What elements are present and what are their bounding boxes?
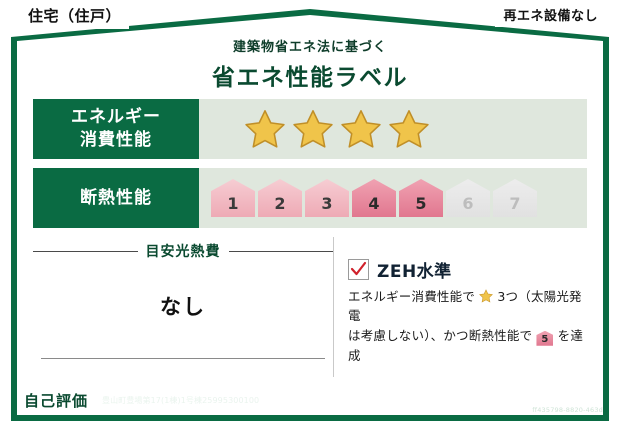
utility-cost-heading: 目安光熱費 — [33, 241, 333, 261]
energy-label-line2: 消費性能 — [80, 130, 152, 150]
insulation-grade-scale: 1234567 — [199, 179, 537, 217]
insulation-grade-1: 1 — [211, 179, 255, 217]
label-title: 省エネ性能ラベル — [0, 58, 620, 92]
label-title-block: 建築物省エネ法に基づく 省エネ性能ラベル — [0, 36, 620, 92]
label-subtitle: 建築物省エネ法に基づく — [0, 36, 620, 55]
star-icon — [387, 108, 431, 150]
insulation-grade-5: 5 — [399, 179, 443, 217]
star-icon — [291, 108, 335, 150]
insulation-grade-2: 2 — [258, 179, 302, 217]
star-icon — [339, 108, 383, 150]
label-lower-section: 目安光熱費 なし ZEH水準 エネルギー消費性能で — [33, 237, 587, 377]
building-type-tag: 住宅（住戸） — [20, 2, 129, 29]
zeh-panel: ZEH水準 エネルギー消費性能で 3つ（太陽光発電 は考慮しない）、かつ断熱性能… — [333, 237, 587, 377]
insulation-grade-7: 7 — [493, 179, 537, 217]
zeh-description: エネルギー消費性能で 3つ（太陽光発電 は考慮しない）、かつ断熱性能で 5 を達… — [348, 287, 587, 365]
energy-performance-label: 住宅（住戸） 再エネ設備なし 建築物省エネ法に基づく 省エネ性能ラベル エネルギ… — [0, 0, 620, 431]
check-icon — [350, 261, 367, 278]
energy-performance-value — [199, 99, 587, 159]
label-footer: 自己評価 豊山町豊場第17(1棟)1号棟25995300100 評価日 2025… — [17, 385, 603, 415]
star-icon — [479, 289, 493, 303]
utility-cost-value: なし — [33, 291, 333, 321]
energy-label-line1: エネルギー — [71, 107, 161, 127]
zeh-desc-part1: エネルギー消費性能で — [348, 289, 475, 304]
evaluation-id: ff435798-8820-463d — [441, 406, 603, 414]
star-rating — [199, 108, 431, 150]
rule-right — [229, 251, 334, 252]
utility-cost-panel: 目安光熱費 なし — [33, 237, 333, 377]
insulation-performance-label-box: 断熱性能 — [33, 168, 199, 228]
utility-cost-bottom-rule — [41, 358, 325, 359]
footer-right: 評価日 2025年11月21日 ff435798-8820-463d — [441, 386, 603, 414]
zeh-checkbox — [348, 259, 369, 280]
insulation-grade-6: 6 — [446, 179, 490, 217]
utility-cost-heading-text: 目安光熱費 — [146, 241, 221, 261]
footer-left: 自己評価 豊山町豊場第17(1棟)1号棟25995300100 — [17, 388, 259, 413]
zeh-desc-part3: は考慮しない）、かつ断熱性能で — [348, 328, 532, 343]
insulation-performance-value: 1234567 — [199, 168, 587, 228]
self-evaluation-badge: 自己評価 — [17, 388, 95, 413]
rule-left — [33, 251, 138, 252]
energy-performance-label-box: エネルギー 消費性能 — [33, 99, 199, 159]
zeh-title: ZEH水準 — [377, 257, 452, 282]
zeh-grade-badge: 5 — [536, 331, 553, 346]
evaluation-date: 評価日 2025年11月21日 — [441, 386, 603, 405]
property-address: 豊山町豊場第17(1棟)1号棟25995300100 — [102, 395, 259, 406]
label-content-card: エネルギー 消費性能 断熱性能 1234567 目安光熱費 — [33, 99, 587, 380]
zeh-heading: ZEH水準 — [348, 257, 587, 282]
insulation-grade-3: 3 — [305, 179, 349, 217]
renewable-energy-tag: 再エネ設備なし — [495, 2, 606, 27]
insulation-performance-row: 断熱性能 1234567 — [33, 168, 587, 228]
insulation-grade-4: 4 — [352, 179, 396, 217]
star-icon — [243, 108, 287, 150]
energy-performance-row: エネルギー 消費性能 — [33, 99, 587, 159]
